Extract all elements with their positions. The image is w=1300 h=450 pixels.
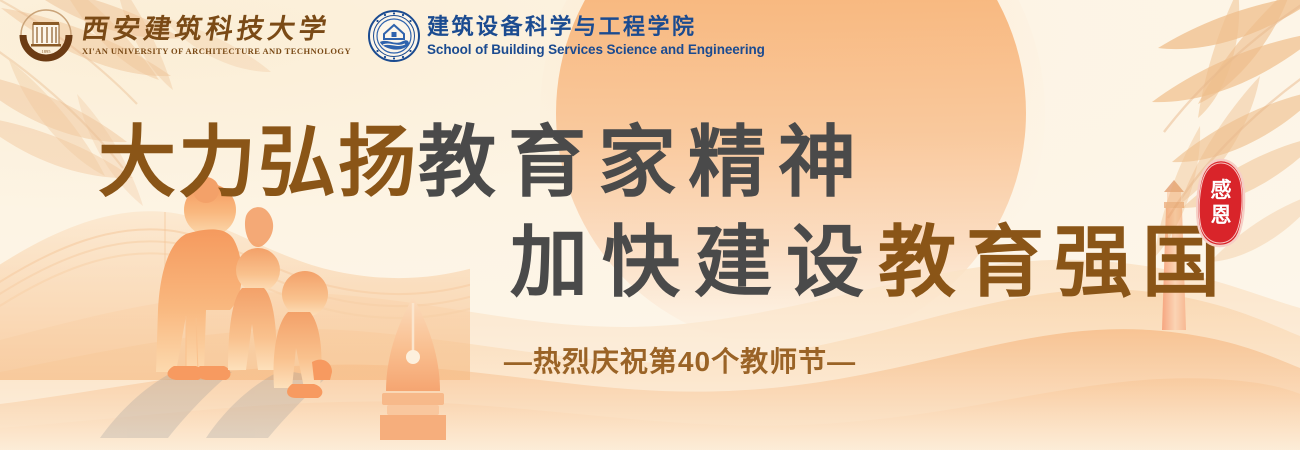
subtitle: —热烈庆祝第40个教师节— — [0, 340, 1300, 380]
svg-text:1895: 1895 — [42, 49, 52, 54]
xauat-seal-icon: 1895 — [16, 8, 76, 64]
university-logo[interactable]: 1895 西安建筑科技大学 XI'AN UNIVERSITY OF ARCHIT… — [16, 8, 351, 64]
seal-char-top: 感 — [1211, 178, 1232, 203]
logo-bar: 1895 西安建筑科技大学 XI'AN UNIVERSITY OF ARCHIT… — [16, 8, 765, 64]
teachers-day-banner: 1895 西安建筑科技大学 XI'AN UNIVERSITY OF ARCHIT… — [0, 0, 1300, 450]
university-name-en: XI'AN UNIVERSITY OF ARCHITECTURE AND TEC… — [82, 47, 351, 56]
gratitude-seal: 感 恩 — [1194, 158, 1248, 248]
seal-char-bottom: 恩 — [1211, 203, 1232, 228]
lighthouse-graphic — [1152, 180, 1196, 330]
school-emblem-icon — [367, 9, 421, 63]
school-name-en: School of Building Services Science and … — [427, 43, 765, 57]
school-name-cn: 建筑设备科学与工程学院 — [427, 16, 765, 38]
university-name-cn: 西安建筑科技大学 — [80, 16, 353, 43]
school-logo[interactable]: 建筑设备科学与工程学院 School of Building Services … — [367, 9, 765, 63]
seal-text: 感 恩 — [1194, 158, 1248, 248]
